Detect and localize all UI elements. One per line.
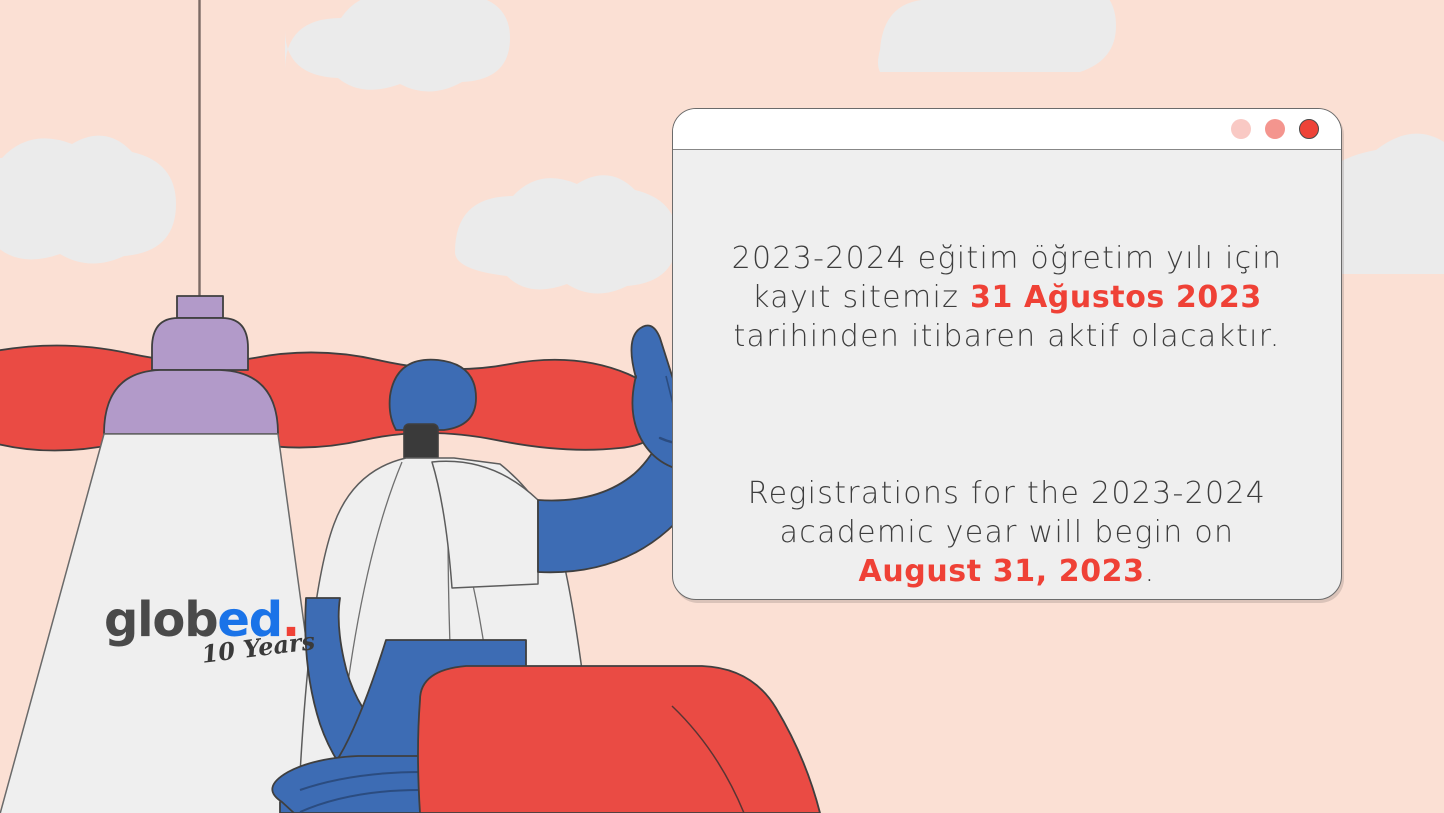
cloud-top-right [878, 0, 1116, 72]
announcement-en-suffix: . [1145, 554, 1156, 589]
window-content: 2023-2024 eğitim öğretim yılı için kayıt… [673, 150, 1341, 599]
character-neck [404, 424, 438, 462]
window-titlebar [673, 109, 1341, 150]
announcement-tr-date: 31 Ağustos 2023 [970, 280, 1262, 315]
announcement-turkish: 2023-2024 eğitim öğretim yılı için kayıt… [687, 239, 1327, 356]
lamp-shoulder [104, 370, 278, 434]
red-banner [0, 345, 664, 450]
close-dot[interactable] [1299, 119, 1319, 139]
announcement-tr-suffix: tarihinden itibaren aktif olacaktır. [733, 319, 1280, 354]
minimize-dot[interactable] [1231, 119, 1251, 139]
announcement-english: Registrations for the 2023-2024 academic… [727, 474, 1287, 591]
announcement-en-date: August 31, 2023 [859, 554, 1145, 589]
maximize-dot[interactable] [1265, 119, 1285, 139]
red-sofa [418, 666, 820, 813]
character-cap [390, 360, 476, 430]
announcement-en-prefix: Registrations for the 2023-2024 academic… [748, 476, 1266, 550]
lamp-neck [152, 318, 248, 370]
lamp-cap-top [177, 296, 223, 318]
globed-logo: globed. 10 Years [104, 596, 304, 678]
poster-canvas: 2023-2024 eğitim öğretim yılı için kayıt… [0, 0, 1444, 813]
browser-window: 2023-2024 eğitim öğretim yılı için kayıt… [672, 108, 1342, 600]
